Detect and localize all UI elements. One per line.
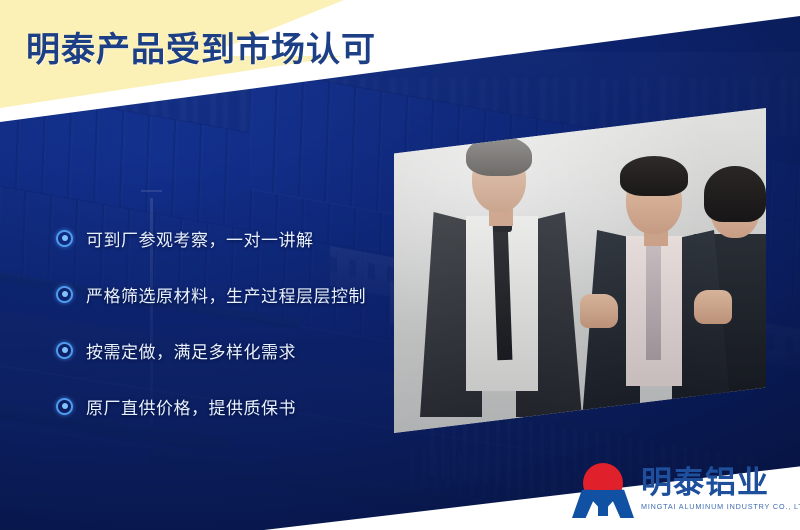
business-meeting-photo <box>394 108 766 433</box>
logo-name-en: MINGTAI ALUMINUM INDUSTRY CO., LTD <box>641 502 800 511</box>
target-ring-icon <box>56 230 73 247</box>
list-item-label: 按需定做，满足多样化需求 <box>86 338 296 363</box>
letter-t-icon <box>598 490 608 516</box>
page-title: 明泰产品受到市场认可 <box>26 22 376 71</box>
list-item-label: 可到厂参观考察，一对一讲解 <box>86 226 314 251</box>
promo-banner: 明泰产品受到市场认可 可到厂参观考察，一对一讲解 严 <box>0 0 800 530</box>
list-item-label: 严格筛选原材料，生产过程层层控制 <box>86 282 366 307</box>
logo-name-cn: 明泰铝业 <box>641 467 800 500</box>
target-ring-icon <box>56 286 73 303</box>
list-item: 原厂直供价格，提供质保书 <box>56 378 406 434</box>
selling-points-list: 可到厂参观考察，一对一讲解 严格筛选原材料，生产过程层层控制 按需定做，满足多样… <box>56 210 406 434</box>
target-ring-icon <box>56 398 73 415</box>
logo-wordmark: 明泰铝业 MINGTAI ALUMINUM INDUSTRY CO., LTD <box>641 467 800 512</box>
list-item: 可到厂参观考察，一对一讲解 <box>56 210 406 266</box>
mingtai-sun-mountain-logo <box>572 462 634 516</box>
list-item: 按需定做，满足多样化需求 <box>56 322 406 378</box>
list-item: 严格筛选原材料，生产过程层层控制 <box>56 266 406 322</box>
company-logo: 明泰铝业 MINGTAI ALUMINUM INDUSTRY CO., LTD <box>572 458 784 520</box>
list-item-label: 原厂直供价格，提供质保书 <box>86 394 296 419</box>
photo-shading <box>394 108 766 433</box>
target-ring-icon <box>56 342 73 359</box>
